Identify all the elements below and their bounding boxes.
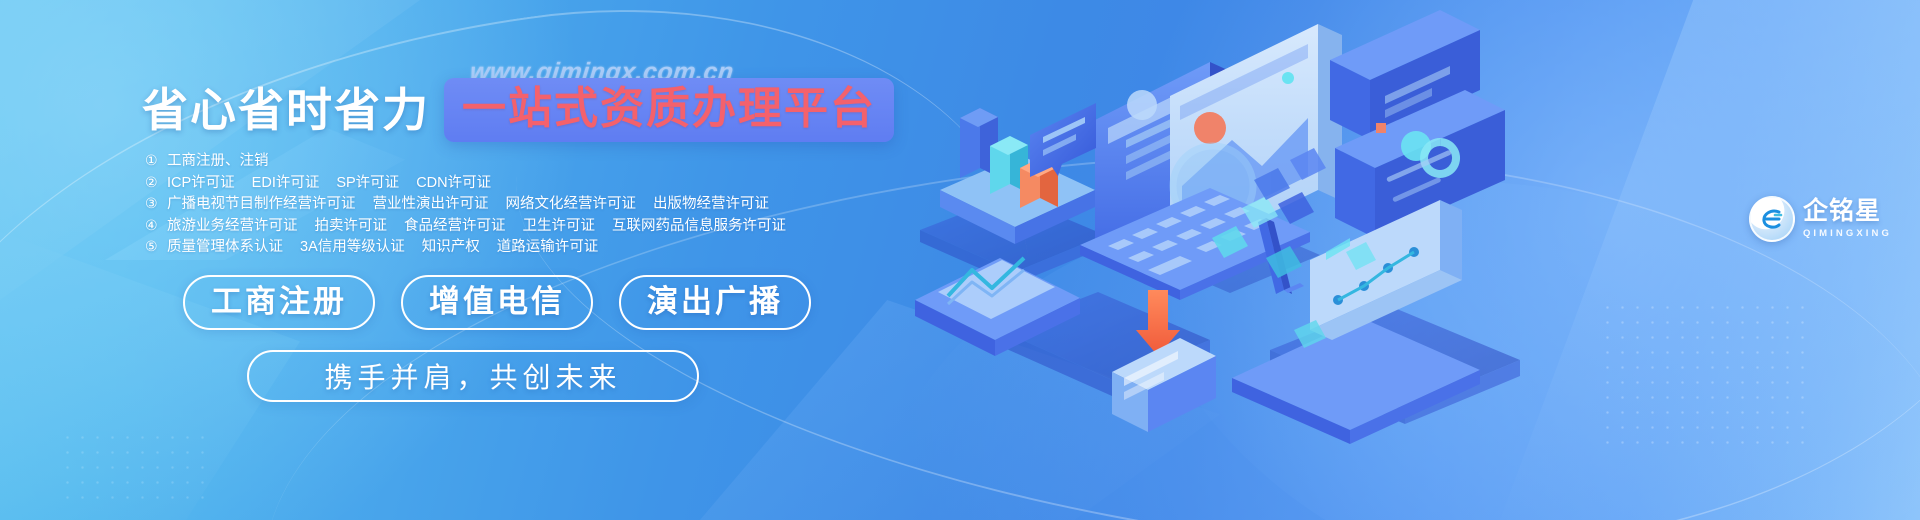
list-item: 道路运输许可证 [497, 237, 599, 258]
list-item: 食品经营许可证 [404, 216, 506, 237]
logo-name-en: QIMINGXING [1803, 229, 1892, 239]
list-number: ① [145, 150, 167, 171]
list-item: 知识产权 [422, 237, 480, 258]
list-item: 工商注册、注销 [167, 151, 269, 172]
service-list-row: ④旅游业务经营许可证拍卖许可证食品经营许可证卫生许可证互联网药品信息服务许可证 [145, 215, 786, 237]
list-item: 旅游业务经营许可证 [167, 216, 298, 237]
list-number: ⑤ [145, 236, 167, 257]
list-items: ICP许可证EDI许可证SP许可证CDN许可证 [167, 173, 491, 194]
list-item: SP许可证 [336, 173, 399, 194]
logo-name-cn: 企铭星 [1803, 199, 1892, 224]
list-item: 出版物经营许可证 [653, 194, 769, 215]
list-item: EDI许可证 [252, 173, 320, 194]
list-item: ICP许可证 [167, 173, 235, 194]
service-list-row: ①工商注册、注销 [145, 150, 786, 172]
category-pills: 工商注册增值电信演出广播 [183, 275, 811, 330]
category-pill-label: 增值电信 [429, 284, 565, 319]
category-pill-label: 工商注册 [211, 284, 347, 319]
list-item: 质量管理体系认证 [167, 237, 283, 258]
list-item: 3A信用等级认证 [300, 237, 405, 258]
list-item: CDN许可证 [416, 173, 491, 194]
service-list-row: ⑤质量管理体系认证3A信用等级认证知识产权道路运输许可证 [145, 236, 786, 258]
list-number: ③ [145, 193, 167, 214]
list-items: 质量管理体系认证3A信用等级认证知识产权道路运输许可证 [167, 237, 598, 258]
promo-banner: 企铭星 QIMINGXING www.qimingx.com.cn 省心省时省力… [0, 0, 1920, 520]
category-pill-button[interactable]: 增值电信 [401, 275, 593, 330]
list-item: 营业性演出许可证 [373, 194, 489, 215]
isometric-illustration [880, 0, 1680, 520]
list-items: 工商注册、注销 [167, 151, 269, 172]
headline-red-text: 一站式资质办理平台 [462, 84, 876, 133]
list-number: ② [145, 172, 167, 193]
illustration-svg [880, 0, 1680, 520]
cta-button[interactable]: 携手并肩，共创未来 [247, 350, 699, 402]
list-item: 网络文化经营许可证 [506, 194, 637, 215]
list-items: 广播电视节目制作经营许可证营业性演出许可证网络文化经营许可证出版物经营许可证 [167, 194, 769, 215]
cta-label: 携手并肩，共创未来 [324, 356, 621, 396]
category-pill-label: 演出广播 [647, 284, 783, 319]
list-item: 互联网药品信息服务许可证 [612, 216, 786, 237]
category-pill-button[interactable]: 工商注册 [183, 275, 375, 330]
service-list-row: ②ICP许可证EDI许可证SP许可证CDN许可证 [145, 172, 786, 194]
brand-logo[interactable]: 企铭星 QIMINGXING [1749, 196, 1892, 242]
headline-white-text: 省心省时省力 [142, 87, 430, 133]
list-item: 广播电视节目制作经营许可证 [167, 194, 356, 215]
list-item: 卫生许可证 [523, 216, 596, 237]
list-number: ④ [145, 215, 167, 236]
logo-text-block: 企铭星 QIMINGXING [1803, 199, 1892, 239]
service-list: ①工商注册、注销②ICP许可证EDI许可证SP许可证CDN许可证③广播电视节目制… [145, 150, 786, 258]
headline: 省心省时省力 一站式资质办理平台 [142, 78, 894, 142]
swirl-star-icon [1749, 196, 1795, 242]
list-item: 拍卖许可证 [315, 216, 388, 237]
headline-pill: 一站式资质办理平台 [444, 78, 894, 142]
category-pill-button[interactable]: 演出广播 [619, 275, 811, 330]
service-list-row: ③广播电视节目制作经营许可证营业性演出许可证网络文化经营许可证出版物经营许可证 [145, 193, 786, 215]
banner-content: www.qimingx.com.cn 省心省时省力 一站式资质办理平台 ①工商注… [0, 0, 900, 520]
speech-bubble [1030, 103, 1096, 177]
list-items: 旅游业务经营许可证拍卖许可证食品经营许可证卫生许可证互联网药品信息服务许可证 [167, 216, 786, 237]
